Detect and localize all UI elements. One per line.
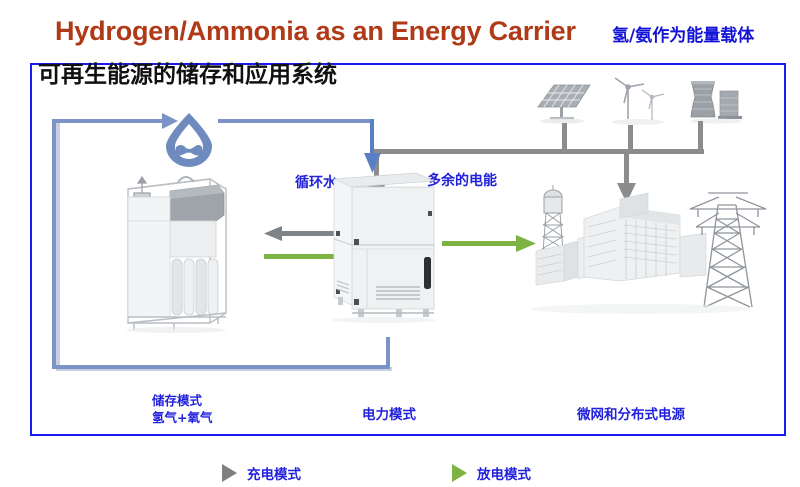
power-plant-icon	[684, 77, 748, 127]
triangle-green-icon	[452, 464, 467, 482]
source-drop-wind	[628, 125, 633, 149]
loop-pipe-riser	[386, 337, 390, 369]
source-drop-thermal	[698, 121, 703, 149]
electric-bus-horizontal	[372, 149, 704, 154]
solar-panel-icon	[532, 77, 594, 125]
label-microgrid: 微网和分布式电源	[577, 403, 685, 423]
hydrogen-storage-tank-icon	[114, 173, 240, 333]
legend-item-discharge: 放电模式	[452, 463, 531, 483]
page-title-english: Hydrogen/Ammonia as an Energy Carrier	[55, 16, 576, 47]
city-grid-icon	[520, 185, 790, 335]
water-drop-icon	[158, 110, 220, 168]
legend-label-discharge: 放电模式	[477, 463, 531, 483]
legend: 充电模式 放电模式	[222, 463, 642, 487]
loop-pipe-left-vertical	[52, 119, 56, 369]
diagram-frame: 可再生能源的储存和应用系统	[30, 63, 786, 436]
wind-turbine-icon	[604, 75, 674, 129]
loop-pipe-bottom-horizontal	[52, 365, 390, 369]
label-storage-mode-line2: 氢气+氧气	[152, 409, 212, 426]
label-power-mode: 电力模式	[362, 403, 416, 423]
page-title-chinese: 氢/氨作为能量载体	[612, 25, 797, 48]
triangle-gray-icon	[222, 464, 237, 482]
label-storage-mode-line1: 储存模式	[152, 392, 212, 409]
diagram-subtitle: 可再生能源的储存和应用系统	[38, 55, 337, 89]
source-drop-solar	[562, 123, 567, 149]
legend-item-charge: 充电模式	[222, 463, 301, 483]
legend-label-charge: 充电模式	[247, 463, 301, 483]
loop-shadow-left	[56, 122, 60, 371]
loop-pipe-top-horizontal	[52, 119, 152, 123]
label-storage-mode: 储存模式 氢气+氧气	[152, 392, 212, 426]
water-line-horizontal	[218, 119, 374, 123]
fuel-cell-cabinet-icon	[324, 165, 440, 325]
